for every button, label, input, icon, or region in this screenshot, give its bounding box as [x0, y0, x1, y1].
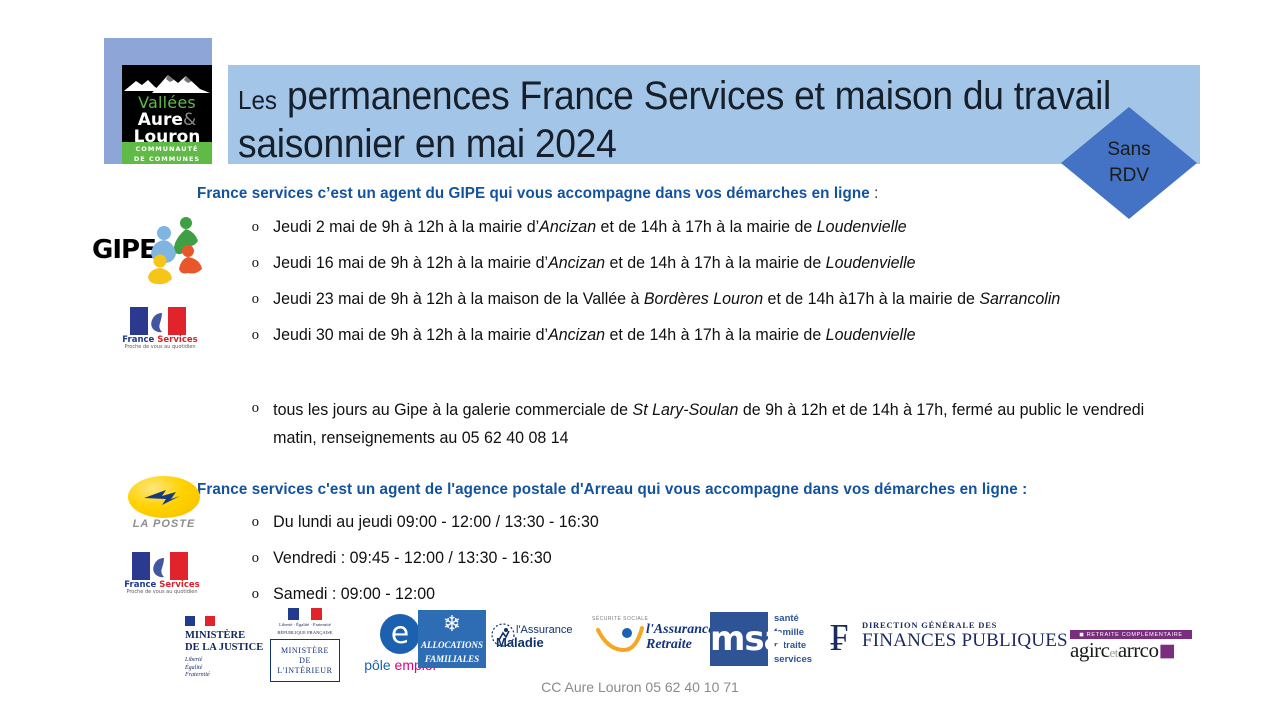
logo-band-communaute: COMMUNAUTÉ DE COMMUNES	[122, 142, 212, 164]
place-name: St Lary-Soulan	[633, 401, 739, 419]
list-item: oJeudi 2 mai de 9h à 12h à la mairie d’A…	[245, 215, 1060, 239]
interieur-devise: Liberté · Égalité · Fraternité	[270, 622, 340, 628]
caf-line2: FAMILIALES	[418, 654, 486, 664]
bullet-marker: o	[252, 323, 259, 347]
item-text: Du lundi au jeudi 09:00 - 12:00 / 13:30 …	[273, 513, 599, 531]
list-item: oDu lundi au jeudi 09:00 - 12:00 / 13:30…	[245, 510, 599, 534]
justice-line2: DE LA JUSTICE	[185, 642, 277, 654]
msa-logo: msa santé famille retraite services	[710, 612, 840, 666]
agirc-et: et	[1109, 645, 1117, 660]
marianne-profile-icon	[146, 556, 170, 578]
partner-logos-strip: MINISTÈRE DE LA JUSTICE Liberté Égalité …	[185, 606, 1195, 672]
item-text: Jeudi 30 mai de 9h à 12h à la mairie d’	[273, 326, 548, 344]
place-name: Ancizan	[548, 326, 605, 344]
footer-contact: CC Aure Louron 05 62 40 10 71	[0, 679, 1280, 695]
item-text: Jeudi 2 mai de 9h à 12h à la mairie d’	[273, 218, 539, 236]
item-text: et de 14h à 17h à la mairie de	[596, 218, 817, 236]
sans-rdv-badge-label: Sans RDV	[1061, 107, 1197, 219]
list-item: oSamedi : 09:00 - 12:00	[245, 582, 599, 606]
list-item: oVendredi : 09:45 - 12:00 / 13:30 - 16:3…	[245, 546, 599, 570]
place-name: Loudenvielle	[817, 218, 907, 236]
list-item: oJeudi 16 mai de 9h à 12h à la mairie d’…	[245, 251, 1060, 275]
sans-rdv-line1: Sans	[1107, 137, 1150, 163]
flag-red-band	[311, 608, 322, 620]
logo-band-line2: DE COMMUNES	[122, 154, 212, 164]
item-text: Jeudi 23 mai de 9h à 12h à la maison de …	[273, 290, 644, 308]
ministere-interieur-logo: Liberté · Égalité · Fraternité RÉPUBLIQU…	[270, 608, 340, 682]
la-poste-wordmark: LA POSTE	[122, 518, 206, 530]
interieur-box: MINISTÈRE DE L'INTÉRIEUR	[270, 639, 340, 682]
bullet-marker: o	[252, 287, 259, 311]
place-name: Loudenvielle	[826, 254, 916, 272]
msa-mark: msa	[710, 612, 768, 666]
interieur-republique: RÉPUBLIQUE FRANÇAISE	[270, 630, 340, 636]
sans-rdv-badge: Sans RDV	[1061, 107, 1197, 219]
gipe-figures-icon	[92, 213, 220, 285]
flag-blue-band	[185, 616, 195, 626]
item-text: Jeudi 16 mai de 9h à 12h à la mairie d’	[273, 254, 548, 272]
arrco-word: arrco	[1118, 638, 1159, 662]
france-services-logo-gipe: France Services Proche de vous au quotid…	[118, 307, 202, 351]
item-text: Samedi : 09:00 - 12:00	[273, 585, 435, 603]
page-title-prefix: Les	[238, 85, 277, 115]
flag-blue-band	[288, 608, 299, 620]
la-poste-logo: LA POSTE	[122, 476, 206, 538]
ministere-justice-logo: MINISTÈRE DE LA JUSTICE Liberté Égalité …	[185, 616, 277, 680]
justice-devise1: Liberté	[185, 657, 277, 665]
dgfip-line1: DIRECTION GÉNÉRALE DES	[862, 620, 1070, 630]
bullet-marker: o	[252, 510, 259, 534]
dgfip-text: DIRECTION GÉNÉRALE DES FINANCES PUBLIQUE…	[862, 620, 1070, 651]
dgfip-emblem-icon: ₣	[830, 618, 858, 658]
assurance-retraite-swoosh-icon	[596, 624, 644, 654]
place-name: Ancizan	[548, 254, 605, 272]
bullet-marker: o	[252, 251, 259, 275]
caf-people-icon: ❄	[418, 614, 486, 636]
item-text: tous les jours au Gipe à la galerie comm…	[273, 401, 632, 419]
page-title: Les permanences France Services et maiso…	[238, 74, 1127, 166]
french-flag-icon	[288, 608, 322, 620]
bullet-marker: o	[252, 396, 259, 420]
flag-red-band	[168, 307, 186, 335]
interieur-line1: MINISTÈRE	[273, 646, 337, 656]
place-name: Ancizan	[539, 218, 596, 236]
assurance-maladie-icon	[490, 622, 516, 648]
france-services-logo-poste: France Services Proche de vous au quotid…	[120, 552, 204, 596]
item-text: et de 14h à 17h à la mairie de	[605, 254, 826, 272]
agirc-arrco-wordmark: agircetarrco◼	[1070, 639, 1192, 664]
vallees-aure-louron-logo: Vallées Aure& Louron COMMUNAUTÉ DE COMMU…	[122, 65, 212, 164]
interieur-line2: DE	[273, 656, 337, 666]
item-text: et de 14h à 17h à la mairie de	[605, 326, 826, 344]
agirc-word: agirc	[1070, 638, 1109, 662]
la-poste-bird-icon	[122, 476, 206, 518]
list-item: oJeudi 30 mai de 9h à 12h à la mairie d’…	[245, 323, 1060, 347]
list-item: oJeudi 23 mai de 9h à 12h à la maison de…	[245, 287, 1060, 311]
flag-white-band	[299, 608, 311, 620]
flag-red-band	[205, 616, 215, 626]
agirc-square-icon: ◼	[1159, 638, 1176, 662]
place-name: Sarrancolin	[979, 290, 1060, 308]
section-heading-gipe: France services c’est un agent du GIPE q…	[197, 185, 878, 203]
justice-devise2: Égalité	[185, 665, 277, 673]
flag-red-band	[170, 552, 188, 580]
bullet-marker: o	[252, 582, 259, 606]
section-heading-poste: France services c'est un agent de l'agen…	[197, 481, 1027, 499]
page-title-main: permanences France Services et maison du…	[238, 74, 1111, 166]
pole-word: pôle	[364, 657, 394, 673]
gipe-permanence-list: oJeudi 2 mai de 9h à 12h à la mairie d’A…	[245, 215, 1086, 359]
caf-line1: ALLOCATIONS	[418, 640, 486, 650]
place-name: Loudenvielle	[826, 326, 916, 344]
agirc-arrco-logo: ◼ RETRAITE COMPLÉMENTAIRE agircetarrco◼	[1070, 630, 1192, 664]
france-services-tagline: Proche de vous au quotidien	[120, 589, 204, 595]
item-text: Vendredi : 09:45 - 12:00 / 13:30 - 16:30	[273, 549, 552, 567]
title-banner: Les permanences France Services et maiso…	[228, 65, 1200, 164]
pole-emploi-e-icon: e	[380, 614, 420, 654]
bullet-marker: o	[252, 546, 259, 570]
sans-rdv-line2: RDV	[1109, 163, 1149, 189]
section-heading-gipe-colon: :	[870, 185, 879, 202]
section-heading-gipe-text: France services c’est un agent du GIPE q…	[197, 185, 870, 202]
marianne-profile-icon	[144, 311, 168, 333]
flag-white-band	[195, 616, 205, 626]
dgfip-logo: ₣ DIRECTION GÉNÉRALE DES FINANCES PUBLIQ…	[830, 620, 1070, 651]
allocations-familiales-logo: ❄ ALLOCATIONS FAMILIALES	[418, 610, 486, 668]
french-flag-icon	[185, 616, 215, 626]
community-logo-panel: Vallées Aure& Louron COMMUNAUTÉ DE COMMU…	[104, 38, 212, 164]
poste-hours-list: oDu lundi au jeudi 09:00 - 12:00 / 13:30…	[245, 510, 610, 618]
gipe-daily-list: otous les jours au Gipe à la galerie com…	[245, 396, 1205, 452]
item-text: et de 14h à17h à la mairie de	[763, 290, 979, 308]
france-services-tagline: Proche de vous au quotidien	[118, 344, 202, 350]
interieur-line3: L'INTÉRIEUR	[273, 666, 337, 676]
gipe-logo: GIPE	[92, 213, 220, 285]
list-item: otous les jours au Gipe à la galerie com…	[245, 396, 1176, 452]
assurance-maladie-logo: l'Assurance Maladie	[490, 624, 594, 650]
logo-band-line1: COMMUNAUTÉ	[122, 144, 212, 154]
mountain-icon	[122, 69, 212, 95]
justice-line1: MINISTÈRE	[185, 630, 277, 642]
bullet-marker: o	[252, 215, 259, 239]
dgfip-line2: FINANCES PUBLIQUES	[862, 630, 1070, 651]
place-name: Bordères Louron	[644, 290, 763, 308]
